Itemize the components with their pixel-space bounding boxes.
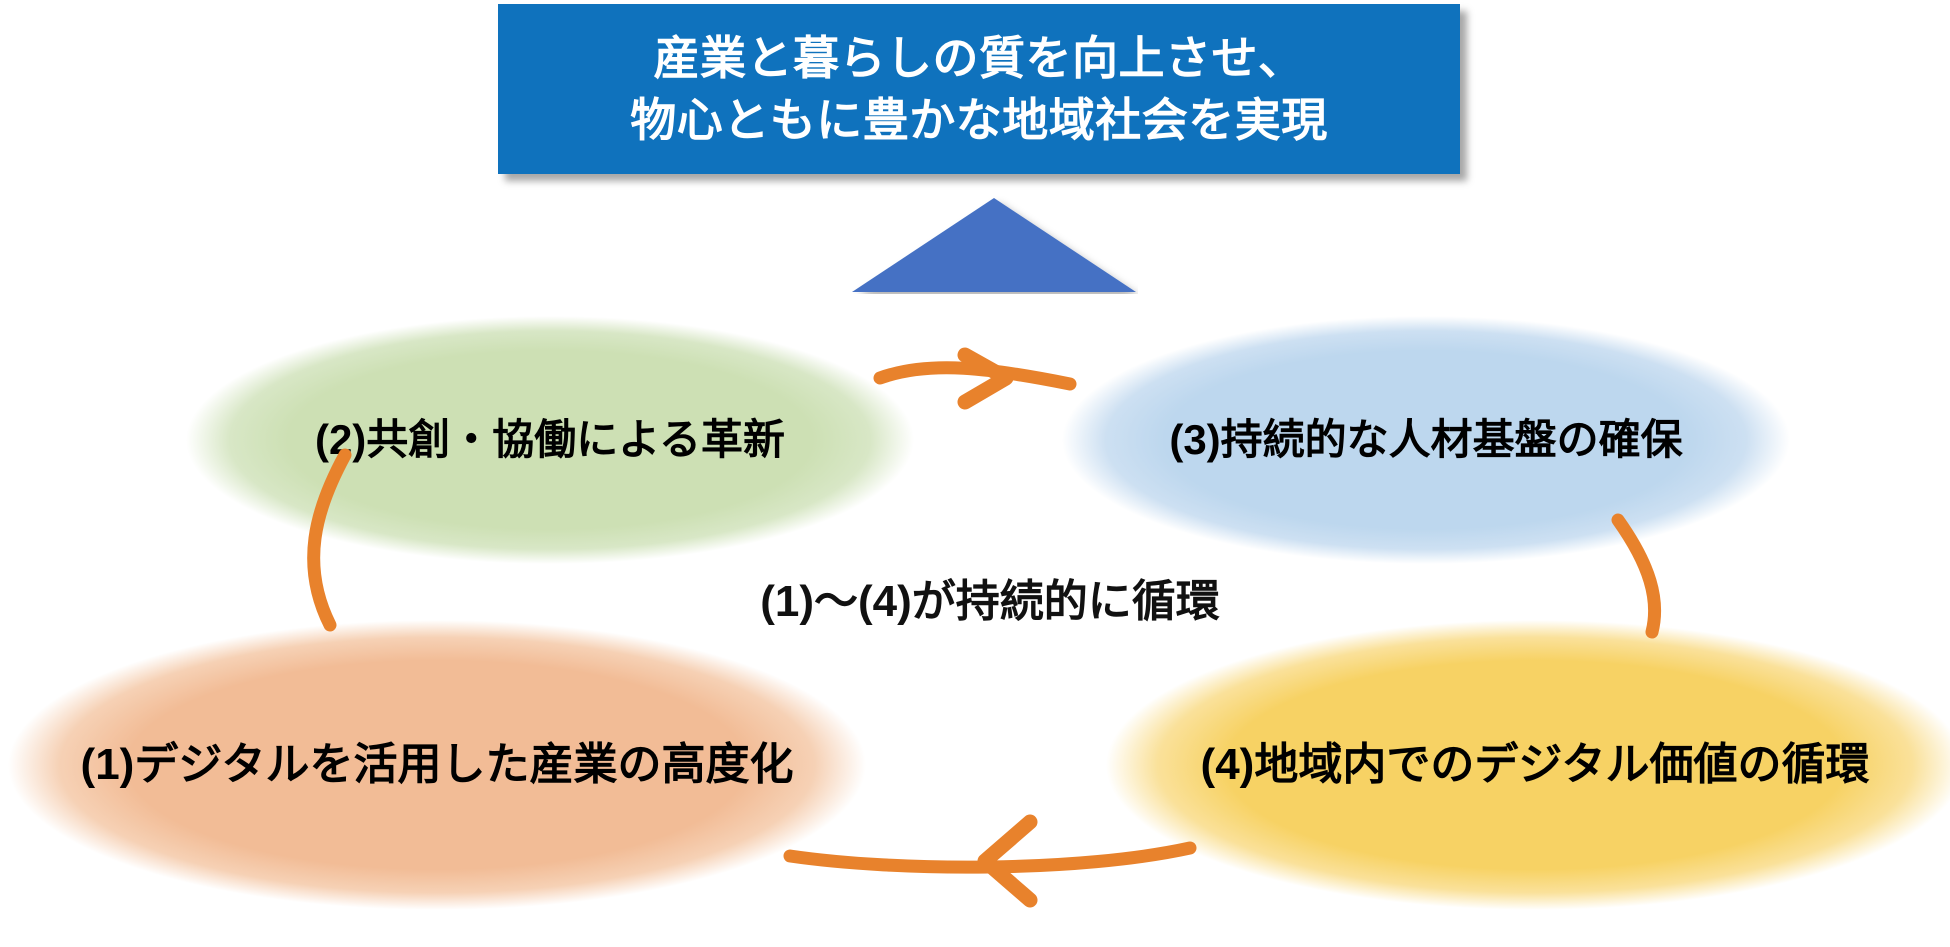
arrowhead-to-node3 (965, 355, 1006, 402)
node-3-label: (3)持続的な人材基盤の確保 (1169, 415, 1682, 465)
arrow-node4-to-node1 (790, 848, 1190, 867)
diagram-canvas: 産業と暮らしの質を向上させ、 物心ともに豊かな地域社会を実現 (2)共創・協働に… (0, 0, 1950, 947)
node-4-label: (4)地域内でのデジタル価値の循環 (1201, 739, 1870, 792)
vision-banner: 産業と暮らしの質を向上させ、 物心ともに豊かな地域社会を実現 (498, 4, 1460, 174)
node-1-label: (1)デジタルを活用した産業の高度化 (81, 739, 794, 792)
upward-triangle-arrow (850, 196, 1138, 294)
cycle-caption: (1)〜(4)が持続的に循環 (640, 565, 1340, 629)
arrow-node2-to-node3 (880, 368, 1070, 384)
arrowhead-to-node1 (985, 822, 1030, 900)
node-1-デジタル活用産業高度化[interactable]: (1)デジタルを活用した産業の高度化 (8, 620, 866, 910)
node-2-共創協働による革新[interactable]: (2)共創・協働による革新 (186, 316, 914, 564)
node-4-地域内デジタル価値循環[interactable]: (4)地域内でのデジタル価値の循環 (1106, 620, 1950, 910)
node-2-label: (2)共創・協働による革新 (315, 415, 785, 465)
node-3-持続的な人材基盤の確保[interactable]: (3)持続的な人材基盤の確保 (1062, 316, 1790, 564)
vision-banner-text: 産業と暮らしの質を向上させ、 物心ともに豊かな地域社会を実現 (630, 27, 1328, 151)
